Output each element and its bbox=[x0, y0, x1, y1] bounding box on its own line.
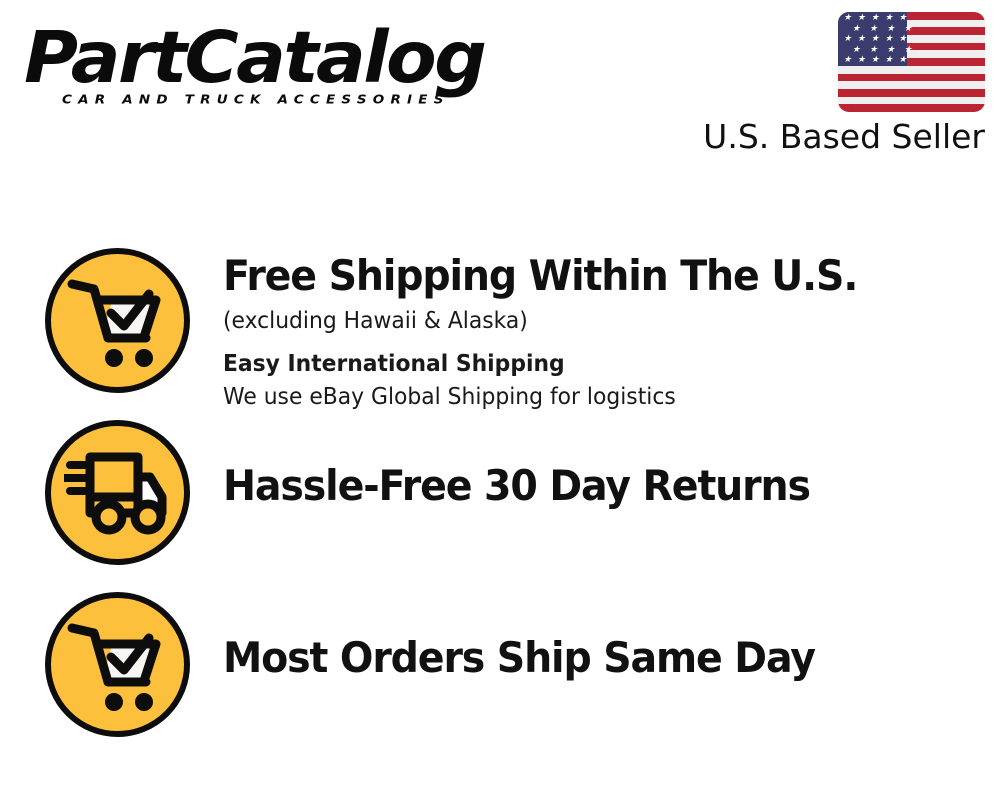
shopping-cart-check-icon bbox=[45, 248, 190, 393]
feature-text-block: Free Shipping Within The U.S. (excluding… bbox=[223, 252, 963, 413]
feature-headline: Most Orders Ship Same Day bbox=[223, 634, 919, 682]
feature-subtext-logistics: We use eBay Global Shipping for logistic… bbox=[223, 382, 926, 413]
feature-headline: Hassle-Free 30 Day Returns bbox=[223, 462, 919, 510]
feature-subtext-exclusions: (excluding Hawaii & Alaska) bbox=[223, 306, 926, 337]
feature-text-block: Hassle-Free 30 Day Returns bbox=[223, 462, 963, 510]
feature-headline: Free Shipping Within The U.S. bbox=[223, 252, 919, 300]
feature-text-block: Most Orders Ship Same Day bbox=[223, 634, 963, 682]
delivery-truck-icon bbox=[45, 420, 190, 565]
brand-tagline: CAR AND TRUCK ACCESSORIES bbox=[62, 92, 450, 107]
feature-row: Most Orders Ship Same Day bbox=[0, 592, 1000, 742]
brand-wordmark: PartCatalog bbox=[24, 22, 513, 94]
feature-row: Hassle-Free 30 Day Returns bbox=[0, 420, 1000, 570]
header-bar: PartCatalog CAR AND TRUCK ACCESSORIES bbox=[0, 0, 1000, 175]
feature-row: Free Shipping Within The U.S. (excluding… bbox=[0, 248, 1000, 398]
flag-canton bbox=[838, 12, 907, 66]
us-based-seller-label: U.S. Based Seller bbox=[703, 117, 985, 157]
shopping-cart-check-icon bbox=[45, 592, 190, 737]
feature-subtext-international-title: Easy International Shipping bbox=[223, 349, 926, 380]
us-flag-icon bbox=[838, 12, 985, 112]
brand-logo[interactable]: PartCatalog CAR AND TRUCK ACCESSORIES bbox=[24, 22, 494, 117]
